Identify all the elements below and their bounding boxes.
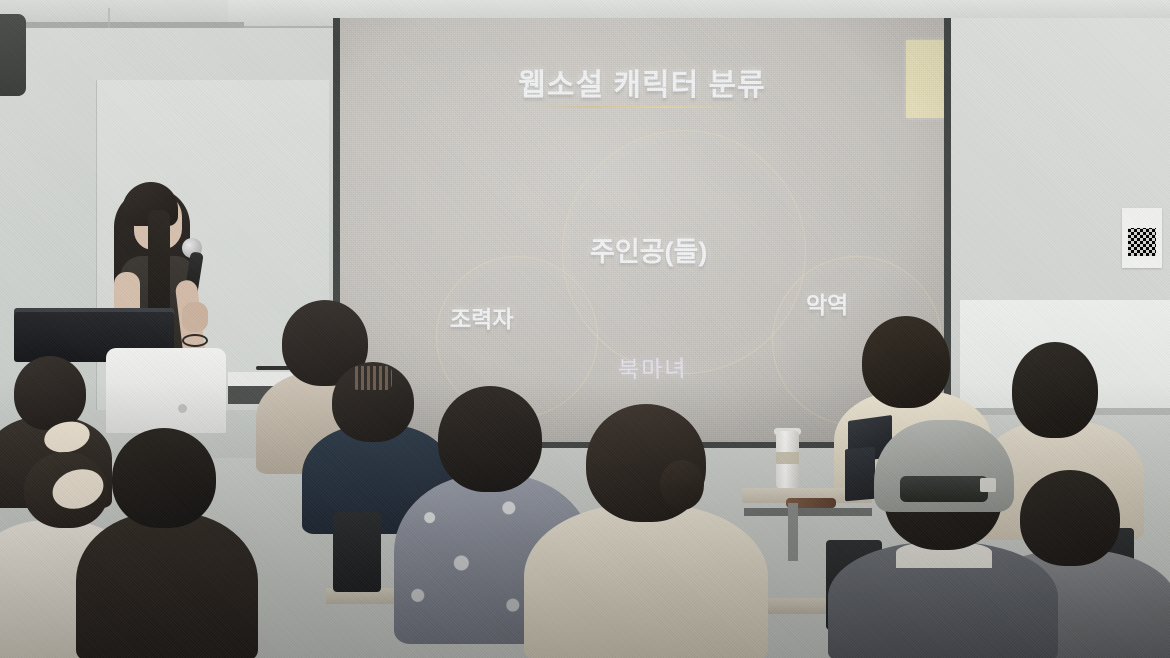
projection-screen: 웹소설 캐릭터 분류 조력자 주인공(들) 악역 북마녀 (340, 18, 944, 442)
tablet (845, 447, 875, 502)
hair-clip-icon (352, 366, 392, 390)
desk-crossbar (744, 508, 872, 516)
cap-strap (900, 476, 988, 502)
audience-head (1012, 342, 1098, 438)
audience-torso (524, 504, 768, 658)
venn-label-protagonist: 주인공(들) (590, 230, 707, 269)
wall-speaker-icon (0, 14, 26, 96)
desk-leg (788, 503, 798, 561)
audience-head (438, 386, 542, 492)
presenter-hand (182, 302, 208, 332)
venn-label-villain: 악역 (806, 286, 848, 320)
qr-code-icon (1128, 228, 1156, 256)
tumbler-sleeve (776, 452, 799, 464)
lectern (106, 348, 226, 433)
pen-icon (256, 366, 290, 370)
venn-label-helper: 조력자 (450, 300, 513, 334)
hair-bun (660, 460, 704, 510)
slide-brand-mark: 북마녀 (618, 349, 688, 384)
presenter-bracelet (182, 334, 208, 347)
cap-buckle (980, 478, 996, 492)
chair (333, 512, 381, 592)
lecture-hall-photo: 웹소설 캐릭터 분류 조력자 주인공(들) 악역 북마녀 (0, 0, 1170, 658)
audience-torso (76, 512, 258, 658)
lectern-knob (178, 404, 187, 413)
audience-head (862, 316, 950, 408)
audience-head (112, 428, 216, 528)
audience-head (1020, 470, 1120, 566)
audience-head (14, 356, 86, 430)
